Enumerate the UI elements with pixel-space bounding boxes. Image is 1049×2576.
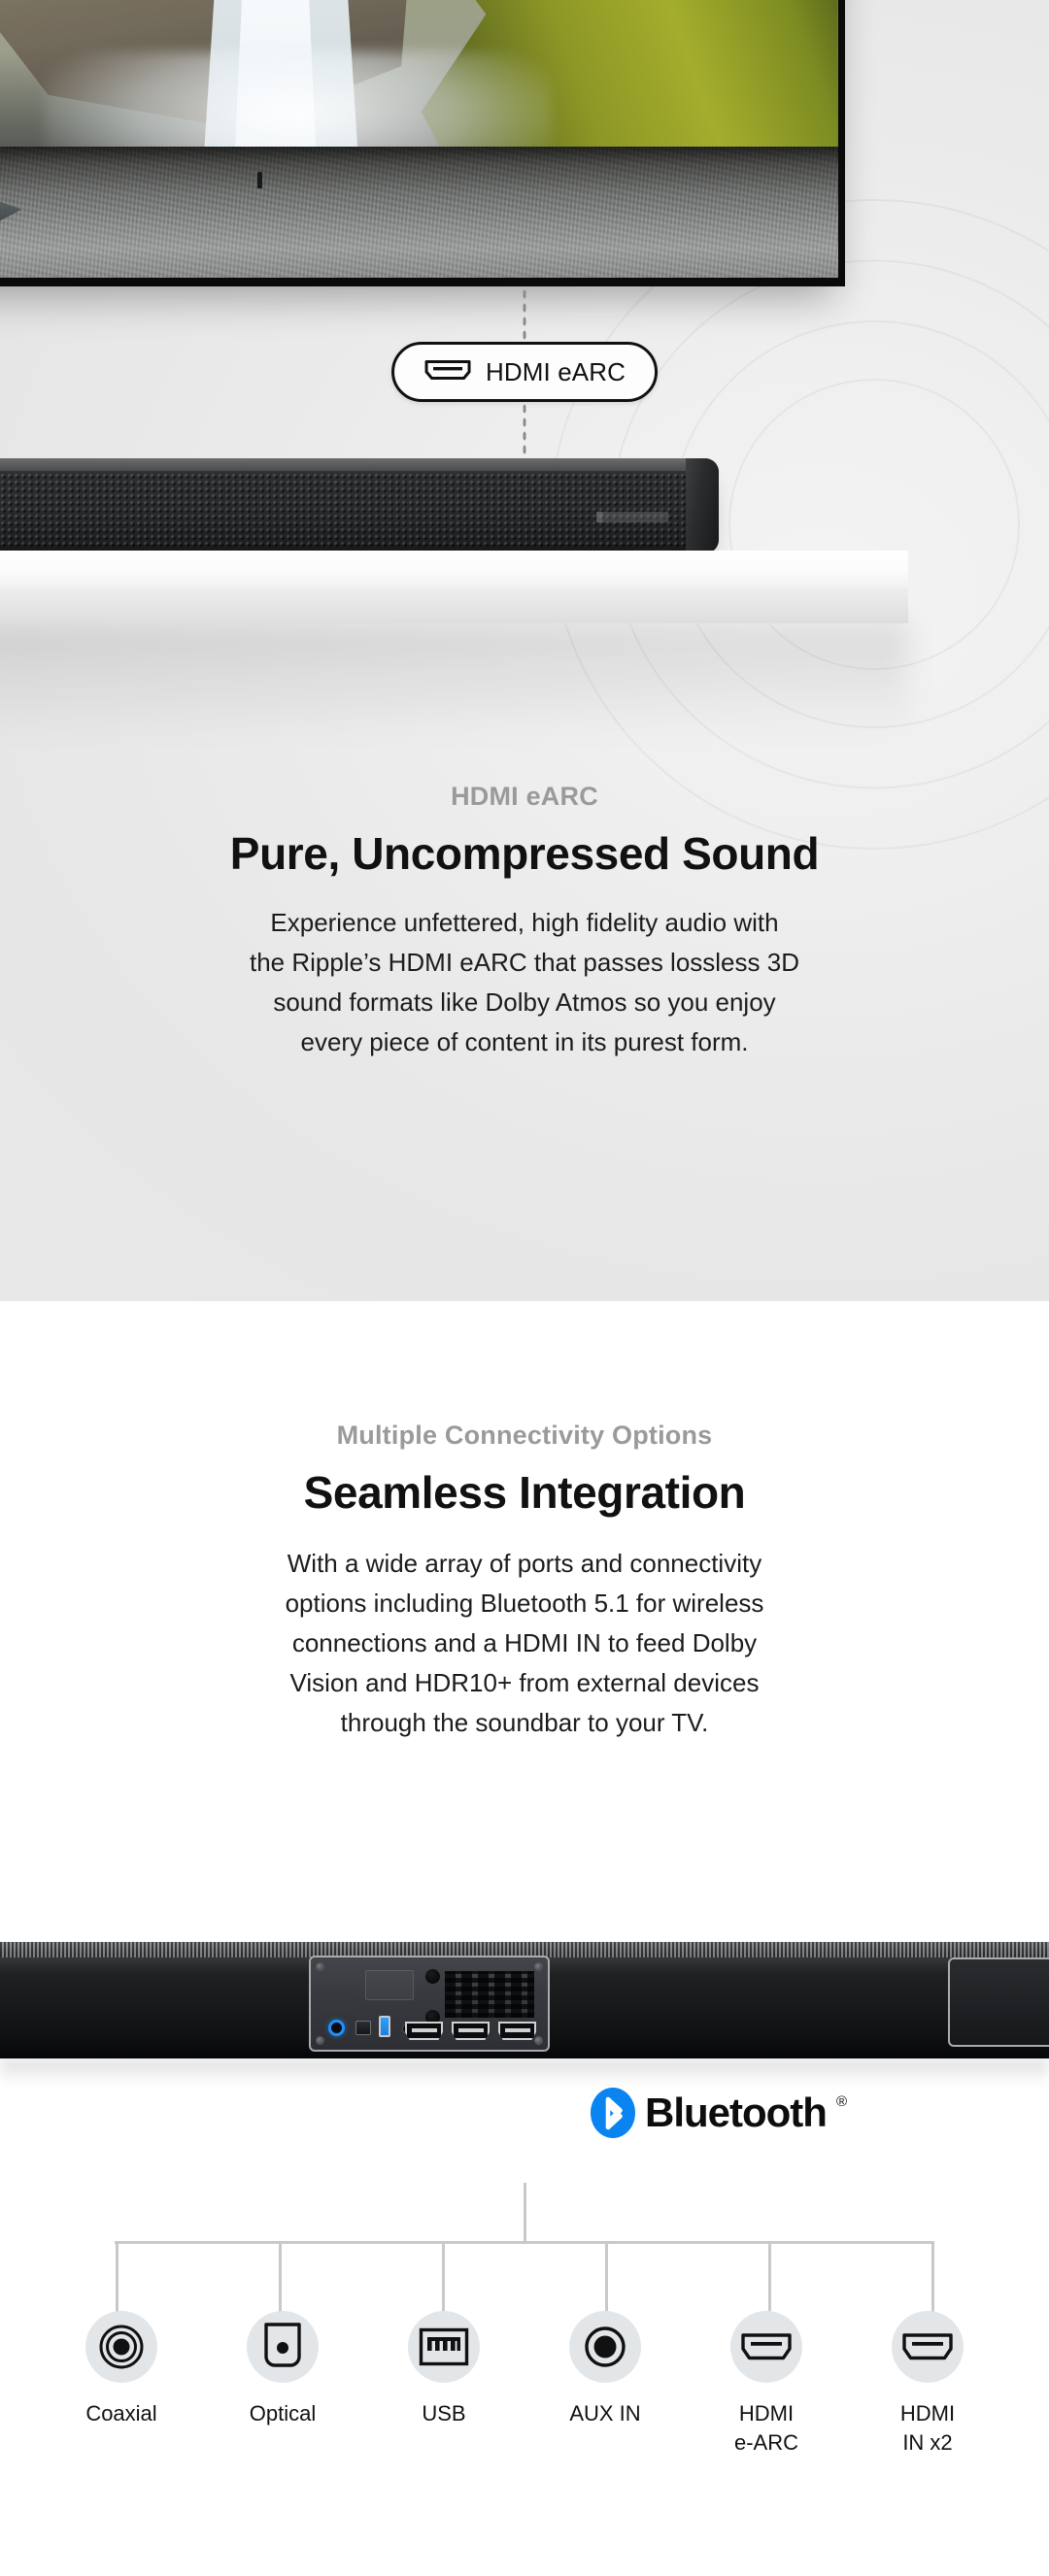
port-bubble: [730, 2311, 802, 2383]
connector-dotted-line-bottom: [523, 402, 527, 460]
port-label: AUX IN: [569, 2399, 640, 2428]
earc-body-line: sound formats like Dolby Atmos so you en…: [0, 983, 1049, 1022]
warning-label: [365, 1970, 414, 2000]
connector-tree: [0, 2183, 1049, 2290]
tree-drop: [116, 2241, 118, 2315]
rear-usb-port: [379, 2016, 390, 2037]
port-list: Coaxial Optical: [0, 2311, 1049, 2458]
hdmi-earc-port-icon: [740, 2332, 793, 2361]
rear-io-panel: [309, 1956, 550, 2052]
person-silhouette: [257, 172, 262, 188]
section-hdmi-earc: HDMI eARC HDMI eARC Pure, Uncompressed S…: [0, 0, 1049, 1301]
soundbar-rear: [0, 1942, 1049, 2073]
connector-dotted-line-top: [523, 287, 527, 342]
soundbar-front: [0, 458, 719, 553]
port-item-optical[interactable]: Optical: [202, 2311, 363, 2458]
port-label: HDMI e-ARC: [734, 2399, 798, 2458]
earc-eyebrow: HDMI eARC: [0, 782, 1049, 812]
port-item-hdmi-earc[interactable]: HDMI e-ARC: [686, 2311, 847, 2458]
port-item-coaxial[interactable]: Coaxial: [41, 2311, 202, 2458]
port-bubble: [85, 2311, 157, 2383]
earc-headline: Pure, Uncompressed Sound: [0, 827, 1049, 880]
connectivity-body-line: through the soundbar to your TV.: [0, 1703, 1049, 1743]
hdmi-earc-badge-label: HDMI eARC: [486, 357, 626, 387]
connectivity-body-line: options including Bluetooth 5.1 for wire…: [0, 1584, 1049, 1623]
port-item-usb[interactable]: USB: [363, 2311, 524, 2458]
aux-in-port-icon: [584, 2325, 626, 2368]
port-bubble: [408, 2311, 480, 2383]
tree-drop: [931, 2241, 934, 2315]
product-feature-page: HDMI eARC HDMI eARC Pure, Uncompressed S…: [0, 0, 1049, 2576]
speaker-grille: [0, 472, 690, 547]
port-label: HDMI IN x2: [900, 2399, 955, 2458]
hdmi-in-port-icon: [901, 2332, 954, 2361]
dolby-atmos-logo: [596, 512, 668, 522]
tree-drop: [605, 2241, 608, 2315]
connectivity-copy-block: Multiple Connectivity Options Seamless I…: [0, 1421, 1049, 1743]
shelf-top: [0, 551, 908, 587]
rear-side-panel: [948, 1957, 1049, 2047]
port-bubble: [569, 2311, 641, 2383]
hdmi-earc-badge: HDMI eARC: [391, 342, 658, 402]
coaxial-port-icon: [98, 2324, 145, 2370]
shelf-edge: [0, 587, 908, 623]
tree-bus: [115, 2241, 934, 2244]
connectivity-body: With a wide array of ports and connectiv…: [0, 1544, 1049, 1743]
port-bubble: [247, 2311, 319, 2383]
port-item-aux-in[interactable]: AUX IN: [524, 2311, 686, 2458]
tree-stem: [524, 2183, 526, 2243]
optical-port-icon: [262, 2323, 303, 2371]
hdmi-port-icon: [423, 357, 472, 387]
port-label: Optical: [250, 2399, 316, 2428]
connectivity-headline: Seamless Integration: [0, 1466, 1049, 1519]
bluetooth-badge: Bluetooth ®: [591, 2088, 847, 2138]
tv-screen: [0, 0, 838, 278]
earc-body: Experience unfettered, high fidelity aud…: [0, 903, 1049, 1062]
usb-port-icon: [419, 2327, 469, 2366]
registered-trademark-icon: ®: [836, 2093, 847, 2110]
earc-body-line: Experience unfettered, high fidelity aud…: [0, 903, 1049, 943]
connectivity-body-line: With a wide array of ports and connectiv…: [0, 1544, 1049, 1584]
connectivity-body-line: connections and a HDMI IN to feed Dolby: [0, 1623, 1049, 1663]
bluetooth-icon: [591, 2088, 635, 2138]
tree-drop: [279, 2241, 282, 2315]
connectivity-body-line: Vision and HDR10+ from external devices: [0, 1663, 1049, 1703]
earc-copy-block: HDMI eARC Pure, Uncompressed Sound Exper…: [0, 782, 1049, 1062]
rear-coaxial-port: [328, 2020, 345, 2036]
port-bubble: [892, 2311, 964, 2383]
tree-drop: [442, 2241, 445, 2315]
earc-body-line: every piece of content in its purest for…: [0, 1022, 1049, 1062]
tree-drop: [768, 2241, 771, 2315]
earc-body-line: the Ripple’s HDMI eARC that passes lossl…: [0, 943, 1049, 983]
port-label: Coaxial: [85, 2399, 156, 2428]
connectivity-eyebrow: Multiple Connectivity Options: [0, 1421, 1049, 1451]
port-label: USB: [422, 2399, 465, 2428]
television: [0, 0, 845, 286]
rear-optical-port: [355, 2021, 371, 2035]
heat-vent-grid: [445, 1971, 534, 2018]
port-item-hdmi-in[interactable]: HDMI IN x2: [847, 2311, 1008, 2458]
bluetooth-wordmark: Bluetooth: [645, 2090, 827, 2136]
rear-hdmi-ports: [405, 2022, 536, 2040]
